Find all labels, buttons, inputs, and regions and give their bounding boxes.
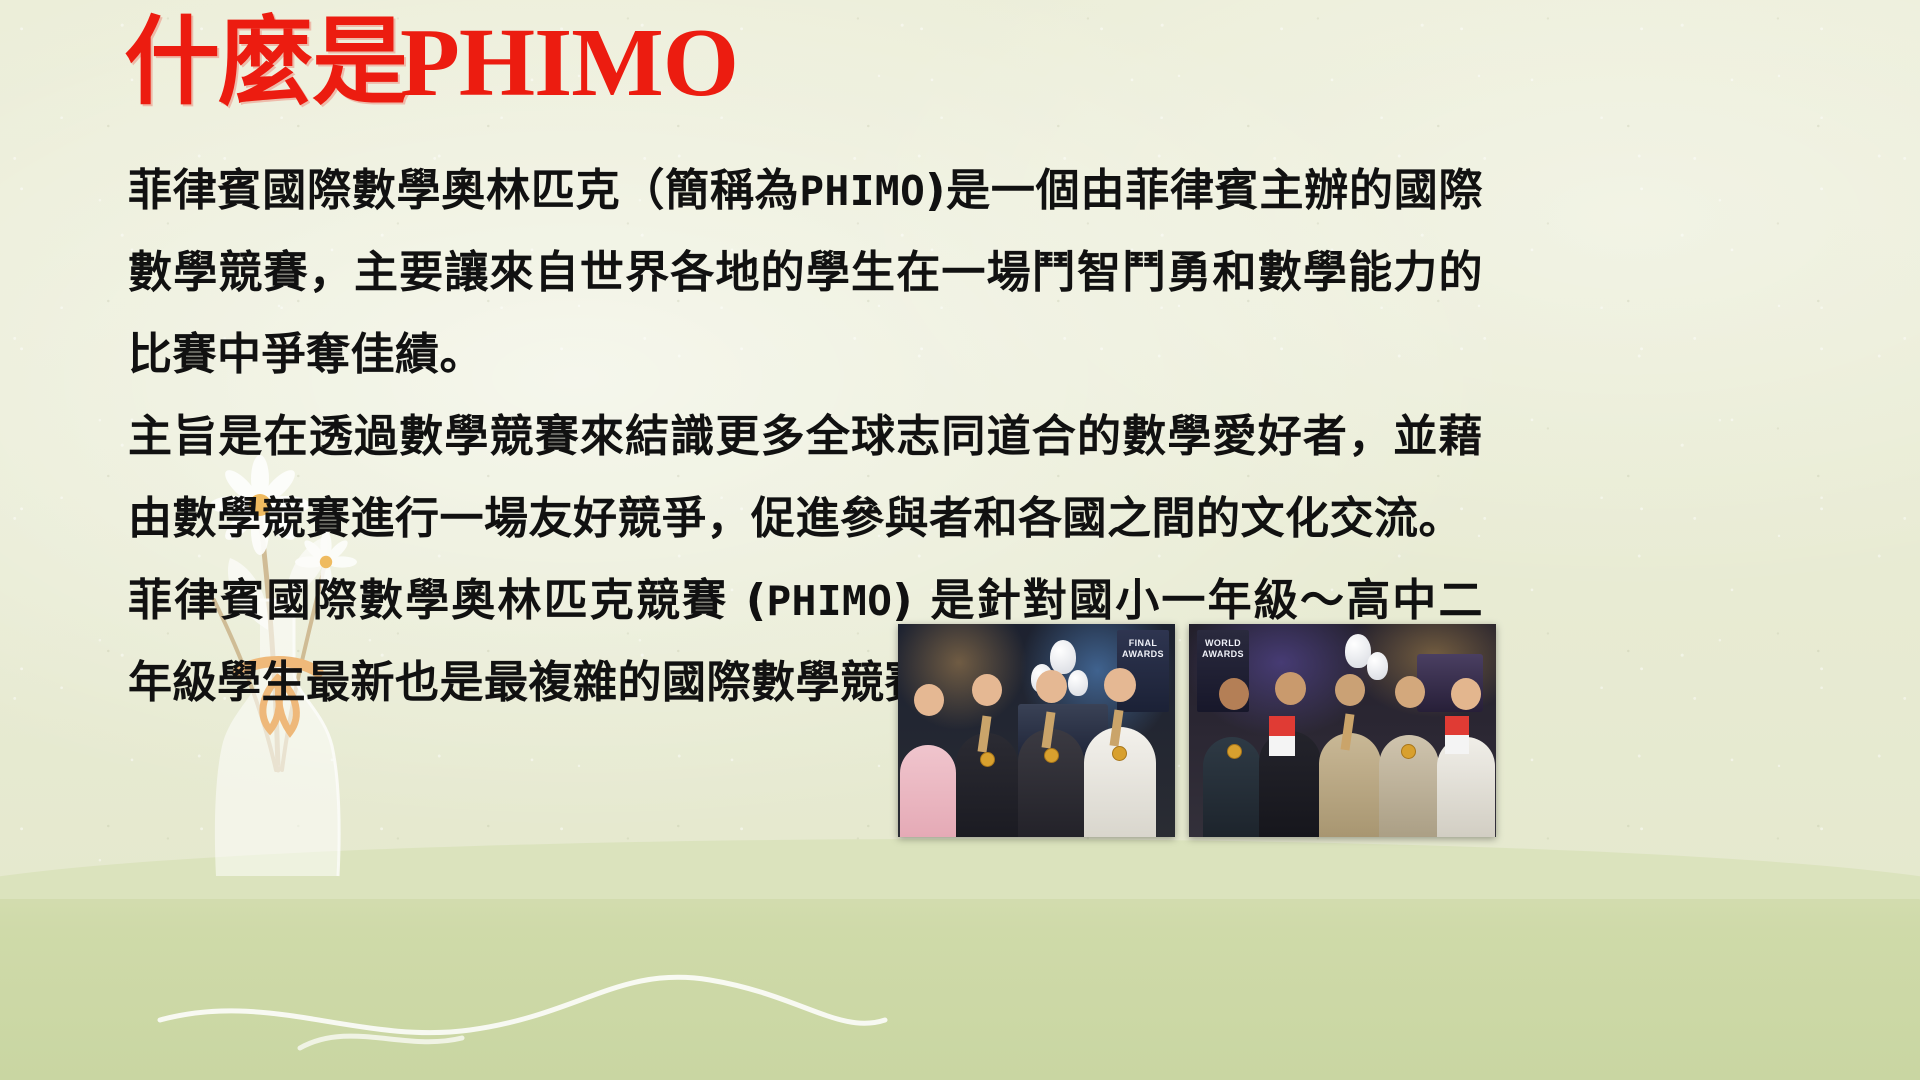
award-medal — [1112, 746, 1127, 761]
photo-awards-group-left[interactable]: FINAL AWARDS — [898, 624, 1175, 837]
person-head — [1036, 670, 1067, 703]
paragraph-3-part1: 菲律賓國際數學奧林匹克競賽 ( — [128, 575, 766, 626]
page-title: 什麼是 PHIMO — [124, 10, 738, 118]
paragraph-1-part1: 菲律賓國際數學奧林匹克（簡稱為 — [128, 165, 799, 216]
paragraph-1: 菲律賓國際數學奧林匹克（簡稱為PHIMO)是一個由菲律賓主辦的國際數學競賽，主要… — [128, 150, 1483, 396]
award-medal — [1044, 748, 1059, 763]
flag-shape — [1445, 716, 1469, 754]
flag-shape — [1269, 716, 1295, 756]
person-head — [1219, 678, 1249, 710]
person-head — [914, 684, 944, 716]
award-medal — [1227, 744, 1242, 759]
balloon-shape — [1367, 652, 1388, 680]
page-title-latin: PHIMO — [400, 10, 738, 118]
person-figure — [1319, 733, 1381, 837]
person-head — [1275, 672, 1306, 705]
page-title-cjk: 什麼是 — [124, 10, 406, 116]
photo-awards-group-right[interactable]: WORLD AWARDS — [1189, 624, 1496, 837]
person-head — [1395, 676, 1425, 708]
paragraph-2: 主旨是在透過數學競賽來結識更多全球志同道合的數學愛好者，並藉由數學競賽進行一場友… — [128, 396, 1483, 560]
person-figure — [1018, 729, 1084, 837]
person-head — [1104, 668, 1136, 702]
person-figure — [1084, 727, 1156, 837]
award-medal — [980, 752, 995, 767]
award-medal — [1401, 744, 1416, 759]
person-head — [972, 674, 1002, 706]
balloon-shape — [1068, 670, 1088, 696]
person-head — [1451, 678, 1481, 710]
person-figure — [956, 733, 1018, 837]
person-figure — [900, 745, 956, 837]
paragraph-3-abbr: PHIMO — [766, 577, 892, 625]
slide-canvas: 什麼是 PHIMO 菲律賓國際數學奧林匹克（簡稱為PHIMO)是一個由菲律賓主辦… — [0, 0, 1920, 1080]
paragraph-1-abbr: PHIMO — [799, 167, 925, 215]
person-head — [1335, 674, 1365, 706]
balloon-shape — [1050, 640, 1076, 674]
